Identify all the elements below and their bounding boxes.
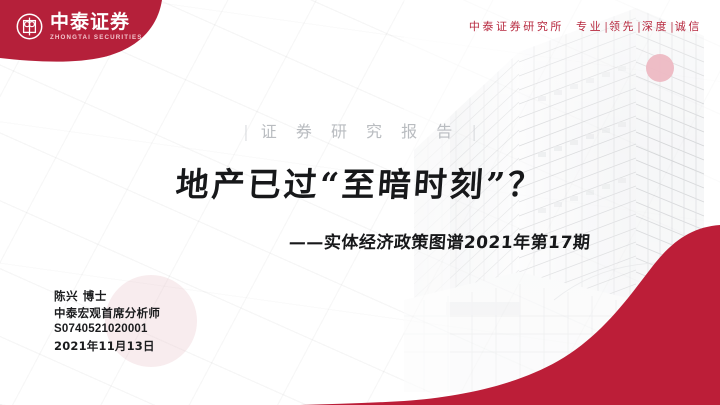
report-cover-slide: 中泰证券 ZHONGTAI SECURITIES 中泰证券研究所 专业 | 领先… [0,0,720,405]
report-type-eyebrow: | 证 券 研 究 报 告 | [0,118,720,142]
page-title: 地产已过“至暗时刻”？ [0,158,720,206]
eyebrow-bar-left: | [243,122,248,141]
tagline-separator-2: | [670,20,674,33]
author-name: 陈兴 博士 [54,288,160,305]
author-license-number: S0740521020001 [54,321,160,338]
research-institute-name: 中泰证券研究所 [469,18,564,34]
tagline-value-2: 深度 [642,18,669,34]
tagline-value-3: 诚信 [675,18,702,34]
author-block: 陈兴 博士 中泰宏观首席分析师 S0740521020001 2021年11月1… [54,288,160,354]
header-tagline: 中泰证券研究所 专业 | 领先 | 深度 | 诚信 [469,18,702,34]
pink-accent-circle [646,54,674,82]
page-subtitle: ——实体经济政策图谱2021年第17期 [288,228,591,253]
brand-name-cn: 中泰证券 [50,13,143,32]
eyebrow-text: 证 券 研 究 报 告 [261,122,459,141]
tagline-value-0: 专业 [576,18,603,34]
report-date: 2021年11月13日 [54,338,160,355]
brand-logo-text: 中泰证券 ZHONGTAI SECURITIES [50,13,143,41]
brand-logo: 中泰证券 ZHONGTAI SECURITIES [16,13,143,41]
brand-name-en: ZHONGTAI SECURITIES [50,35,143,41]
tagline-separator-1: | [637,20,641,33]
tagline-separator-0: | [604,20,608,33]
zhongtai-circle-emblem-icon [16,13,43,40]
tagline-value-1: 领先 [609,18,636,34]
author-role: 中泰宏观首席分析师 [54,305,160,322]
eyebrow-bar-right: | [471,122,476,141]
